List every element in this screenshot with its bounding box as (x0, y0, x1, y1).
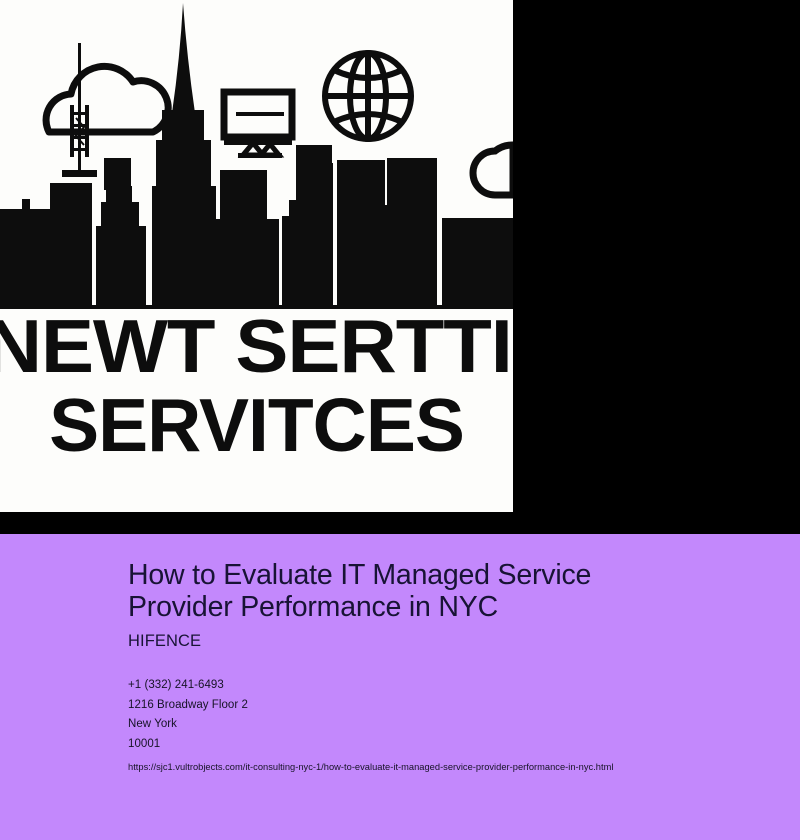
contact-city: New York (128, 715, 780, 735)
divider-band (0, 512, 800, 534)
content-panel: How to Evaluate IT Managed Service Provi… (0, 534, 800, 840)
logo-text-line-2: SERVITCES (0, 388, 513, 463)
contact-block: +1 (332) 241-6493 1216 Broadway Floor 2 … (128, 676, 780, 755)
content-inner: How to Evaluate IT Managed Service Provi… (128, 560, 780, 772)
background-fill-right (513, 0, 800, 512)
hero-logo-image: NEWT SERTTIC SERVITCES (0, 0, 513, 512)
logo-text-line-1: NEWT SERTTIC (0, 309, 513, 384)
source-url[interactable]: https://sjc1.vultrobjects.com/it-consult… (128, 762, 780, 772)
brand-name: HIFENCE (128, 632, 780, 651)
page-root: NEWT SERTTIC SERVITCES How to Evaluate I… (0, 0, 800, 840)
contact-phone: +1 (332) 241-6493 (128, 676, 780, 696)
contact-zip: 10001 (128, 735, 780, 755)
page-title: How to Evaluate IT Managed Service Provi… (128, 560, 688, 624)
globe-icon (325, 53, 411, 139)
contact-street: 1216 Broadway Floor 2 (128, 696, 780, 716)
